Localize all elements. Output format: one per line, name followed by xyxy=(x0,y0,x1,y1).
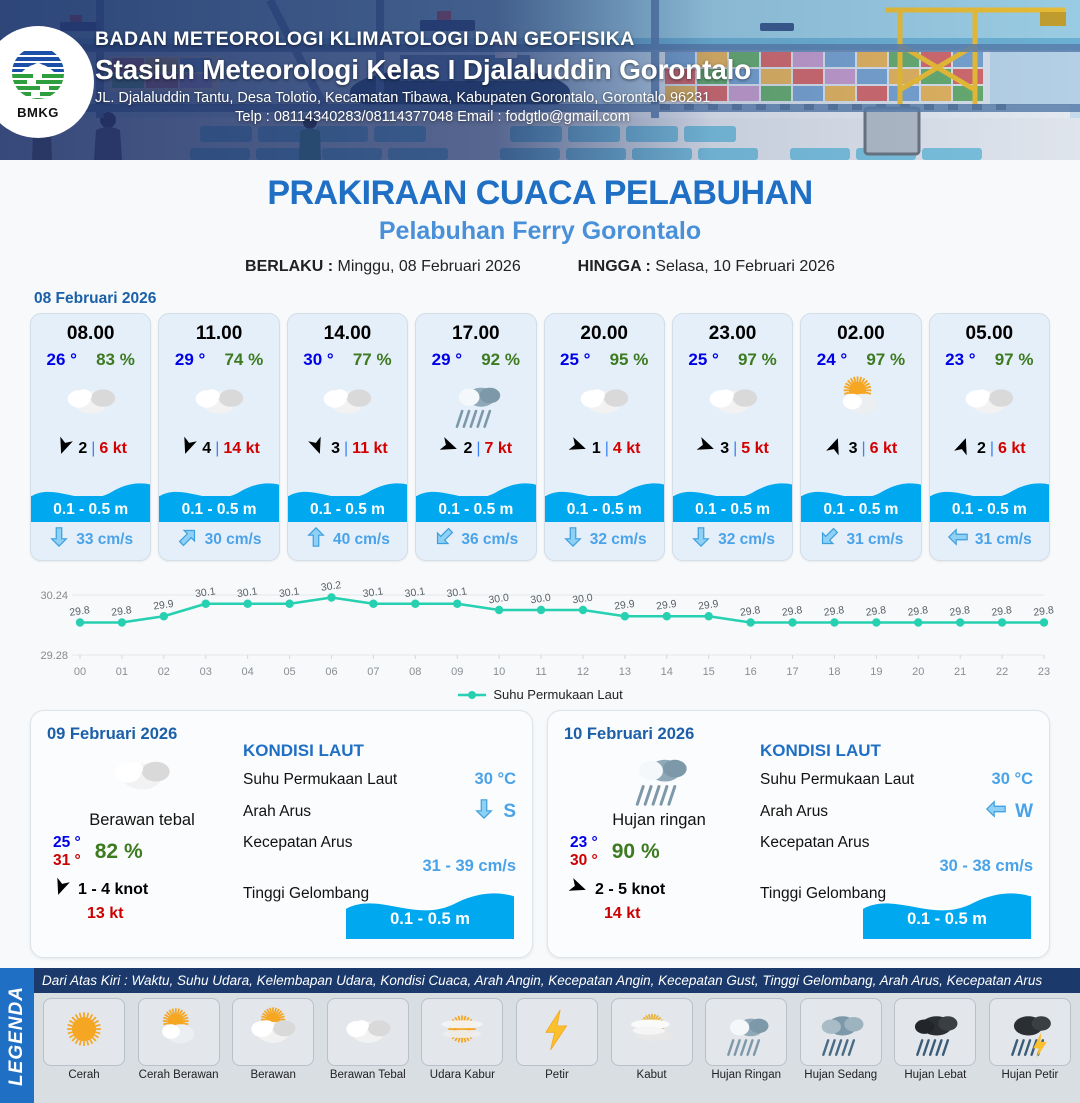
validity-row: BERLAKU : Minggu, 08 Februari 2026 HINGG… xyxy=(0,258,1080,276)
arrow-southwest-icon xyxy=(433,526,455,553)
card-wind-speed: 1 xyxy=(592,440,601,458)
sst-chart: 30.2429.2829.80029.80129.90230.10330.104… xyxy=(18,573,1062,683)
card-gust: 4 kt xyxy=(613,440,641,458)
daily-panel-left: 10 Februari 2026 Hujan ringan 23 ° 30 ° … xyxy=(564,725,754,943)
panel-temp-min: 23 ° xyxy=(570,834,598,852)
card-humidity: 83 % xyxy=(96,350,135,370)
svg-text:15: 15 xyxy=(703,666,715,678)
card-wave-height: 0.1 - 0.5 m xyxy=(159,501,278,519)
udara-kabur-icon xyxy=(421,998,503,1066)
svg-text:29.9: 29.9 xyxy=(152,598,174,613)
forecast-title-block: PRAKIRAAN CUACA PELABUHAN Pelabuhan Ferr… xyxy=(0,160,1080,276)
daily-panel-sea: KONDISI LAUT Suhu Permukaan Laut 30 °C A… xyxy=(754,725,1033,943)
sst-value: 30 °C xyxy=(475,770,516,789)
card-current-row: 31 cm/s xyxy=(930,526,1049,553)
panel-condition: Berawan tebal xyxy=(47,811,237,830)
svg-text:04: 04 xyxy=(242,666,254,678)
svg-text:21: 21 xyxy=(954,666,966,678)
hourly-card: 05.00 23 ° 97 % 2 | 6 kt 0.1 - 0.5 m xyxy=(929,313,1050,561)
card-separator: | xyxy=(990,440,994,458)
daily-panel: 10 Februari 2026 Hujan ringan 23 ° 30 ° … xyxy=(547,710,1050,958)
svg-text:30.1: 30.1 xyxy=(278,585,300,600)
current-speed-label: Kecepatan Arus xyxy=(243,834,352,852)
valid-from-label: BERLAKU : xyxy=(245,258,333,275)
hourly-card: 11.00 29 ° 74 % 4 | 14 kt 0.1 - 0.5 m xyxy=(158,313,279,561)
legend-item-label: Hujan Petir xyxy=(986,1069,1074,1081)
card-wave-height: 0.1 - 0.5 m xyxy=(416,501,535,519)
arrow-south-icon xyxy=(568,877,588,902)
svg-text:20: 20 xyxy=(912,666,924,678)
hujan-ringan-icon xyxy=(416,374,535,430)
card-current-row: 36 cm/s xyxy=(416,526,535,553)
legend-item-label: Berawan xyxy=(229,1069,317,1081)
card-wind-speed: 2 xyxy=(463,440,472,458)
card-wind-speed: 4 xyxy=(202,440,211,458)
card-separator: | xyxy=(733,440,737,458)
card-wave-zone: 0.1 - 0.5 m 30 cm/s xyxy=(159,480,278,560)
card-wave-height: 0.1 - 0.5 m xyxy=(31,501,150,519)
berawan-icon xyxy=(232,998,314,1066)
svg-text:29.8: 29.8 xyxy=(907,604,929,619)
card-current-speed: 31 cm/s xyxy=(975,531,1032,549)
card-wind-speed: 3 xyxy=(331,440,340,458)
hujan-lebat-icon xyxy=(894,998,976,1066)
panel-humidity: 90 % xyxy=(612,840,660,864)
current-direction-value: S xyxy=(503,801,516,823)
svg-text:29.8: 29.8 xyxy=(991,604,1013,619)
page-header: BADAN METEOROLOGI KLIMATOLOGI DAN GEOFIS… xyxy=(0,0,1080,160)
legend-item: Hujan Petir xyxy=(986,998,1074,1081)
svg-text:19: 19 xyxy=(870,666,882,678)
card-gust: 11 kt xyxy=(352,440,388,458)
card-gust: 7 kt xyxy=(485,440,513,458)
card-gust: 14 kt xyxy=(223,440,259,458)
card-wave-zone: 0.1 - 0.5 m 31 cm/s xyxy=(801,480,920,560)
legend-item: Cerah xyxy=(40,998,128,1081)
hourly-card: 23.00 25 ° 97 % 3 | 5 kt 0.1 - 0.5 m xyxy=(672,313,793,561)
station-address: JL. Djalaluddin Tantu, Desa Tolotio, Kec… xyxy=(95,90,1070,106)
chart-legend-label: Suhu Permukaan Laut xyxy=(493,687,622,702)
svg-text:29.8: 29.8 xyxy=(739,604,761,619)
hourly-date-label: 08 Februari 2026 xyxy=(34,290,1080,308)
arrow-northeast-icon xyxy=(177,526,199,553)
wave-height-value: 0.1 - 0.5 m xyxy=(346,910,514,929)
arrow-west-icon xyxy=(178,436,198,461)
legend-item-label: Berawan Tebal xyxy=(324,1069,412,1081)
berawan-tebal-icon xyxy=(288,374,407,430)
card-wave-zone: 0.1 - 0.5 m 32 cm/s xyxy=(673,480,792,560)
sea-condition-title: KONDISI LAUT xyxy=(243,741,516,761)
legend-items-row: Cerah Cerah Berawan Berawan Berawan Teba… xyxy=(34,993,1080,1081)
svg-text:11: 11 xyxy=(535,666,546,678)
panel-wind-range: 2 - 5 knot xyxy=(595,881,665,899)
svg-text:14: 14 xyxy=(661,666,673,678)
arrow-down-icon xyxy=(562,526,584,553)
svg-text:02: 02 xyxy=(158,666,170,678)
card-wave-height: 0.1 - 0.5 m xyxy=(801,501,920,519)
card-gust: 5 kt xyxy=(741,440,769,458)
legend-item: Berawan xyxy=(229,998,317,1081)
station-name: Stasiun Meteorologi Kelas I Djalaluddin … xyxy=(95,54,1070,86)
card-current-speed: 33 cm/s xyxy=(76,531,133,549)
hourly-card: 14.00 30 ° 77 % 3 | 11 kt 0.1 - 0.5 m xyxy=(287,313,408,561)
card-time: 20.00 xyxy=(545,323,664,345)
card-separator: | xyxy=(605,440,609,458)
bmkg-logo-text: BMKG xyxy=(17,105,59,120)
arrow-left-icon xyxy=(947,526,969,553)
svg-text:09: 09 xyxy=(451,666,463,678)
legend-item-label: Kabut xyxy=(608,1069,696,1081)
legend-item: Kabut xyxy=(608,998,696,1081)
legend-item-label: Hujan Sedang xyxy=(797,1069,885,1081)
card-humidity: 95 % xyxy=(610,350,649,370)
berawan-tebal-icon xyxy=(545,374,664,430)
card-current-speed: 31 cm/s xyxy=(846,531,903,549)
cerah-berawan-icon xyxy=(801,374,920,430)
card-wave-zone: 0.1 - 0.5 m 32 cm/s xyxy=(545,480,664,560)
card-current-row: 31 cm/s xyxy=(801,526,920,553)
card-wind-speed: 3 xyxy=(849,440,858,458)
legend-item: Cerah Berawan xyxy=(135,998,223,1081)
legend-item-label: Cerah Berawan xyxy=(135,1069,223,1081)
legend-side-label: LEGENDA xyxy=(6,986,28,1086)
legend-item-label: Cerah xyxy=(40,1069,128,1081)
berawan-tebal-icon xyxy=(31,374,150,430)
hourly-card: 20.00 25 ° 95 % 1 | 4 kt 0.1 - 0.5 m xyxy=(544,313,665,561)
legend-side-bar: LEGENDA xyxy=(0,968,34,1103)
kabut-icon xyxy=(611,998,693,1066)
card-temperature: 30 ° xyxy=(303,350,333,370)
card-wind-speed: 2 xyxy=(78,440,87,458)
card-wind-speed: 3 xyxy=(720,440,729,458)
card-current-row: 40 cm/s xyxy=(288,526,407,553)
panel-date: 09 Februari 2026 xyxy=(47,725,237,744)
current-direction-value: W xyxy=(1015,801,1033,823)
card-humidity: 77 % xyxy=(353,350,392,370)
sst-value: 30 °C xyxy=(992,770,1033,789)
card-temperature: 25 ° xyxy=(560,350,590,370)
card-temperature: 29 ° xyxy=(175,350,205,370)
current-direction-label: Arah Arus xyxy=(243,803,311,821)
arrow-southwest-icon xyxy=(818,526,840,553)
berawan-tebal-icon xyxy=(327,998,409,1066)
svg-text:29.28: 29.28 xyxy=(40,650,68,662)
card-wave-height: 0.1 - 0.5 m xyxy=(288,501,407,519)
valid-from-value: Minggu, 08 Februari 2026 xyxy=(338,258,521,275)
svg-text:30.1: 30.1 xyxy=(362,585,384,600)
card-time: 02.00 xyxy=(801,323,920,345)
sst-label: Suhu Permukaan Laut xyxy=(760,771,914,789)
legend-note: Dari Atas Kiri : Waktu, Suhu Udara, Kele… xyxy=(34,968,1080,993)
valid-to-value: Selasa, 10 Februari 2026 xyxy=(655,258,835,275)
berawan-tebal-icon xyxy=(673,374,792,430)
card-temperature: 25 ° xyxy=(688,350,718,370)
svg-text:00: 00 xyxy=(74,666,86,678)
hujan-ringan-icon xyxy=(705,998,787,1066)
station-contact: Telp : 08114340283/08114377048 Email : f… xyxy=(95,109,1070,125)
card-wave-height: 0.1 - 0.5 m xyxy=(673,501,792,519)
svg-text:29.9: 29.9 xyxy=(697,598,719,613)
card-gust: 6 kt xyxy=(99,440,127,458)
card-temperature: 23 ° xyxy=(945,350,975,370)
card-gust: 6 kt xyxy=(998,440,1026,458)
panel-gust: 14 kt xyxy=(564,905,754,923)
arrow-down-icon xyxy=(473,798,495,825)
hourly-card: 02.00 24 ° 97 % 3 | 6 kt 0.1 - 0.5 m 31 … xyxy=(800,313,921,561)
card-humidity: 97 % xyxy=(995,350,1034,370)
daily-panel-left: 09 Februari 2026 Berawan tebal 25 ° 31 °… xyxy=(47,725,237,943)
arrow-south-icon xyxy=(696,436,716,461)
card-humidity: 92 % xyxy=(481,350,520,370)
petir-icon xyxy=(516,998,598,1066)
hourly-forecast-row: 08.00 26 ° 83 % 2 | 6 kt 0.1 - 0.5 m xyxy=(0,313,1080,561)
current-speed-value: 31 - 39 cm/s xyxy=(243,857,516,876)
svg-text:30.2: 30.2 xyxy=(320,579,342,594)
card-time: 17.00 xyxy=(416,323,535,345)
sea-condition-title: KONDISI LAUT xyxy=(760,741,1033,761)
card-separator: | xyxy=(344,440,348,458)
card-wave-zone: 0.1 - 0.5 m 33 cm/s xyxy=(31,480,150,560)
card-separator: | xyxy=(476,440,480,458)
arrow-south-icon xyxy=(568,436,588,461)
arrow-westsouth-icon xyxy=(307,436,327,461)
svg-text:06: 06 xyxy=(325,666,337,678)
legend-item: Petir xyxy=(513,998,601,1081)
arrow-up-icon xyxy=(305,526,327,553)
svg-text:30.1: 30.1 xyxy=(446,585,468,600)
berawan-tebal-icon xyxy=(159,374,278,430)
card-humidity: 74 % xyxy=(224,350,263,370)
svg-text:30.0: 30.0 xyxy=(572,592,594,607)
card-time: 05.00 xyxy=(930,323,1049,345)
svg-text:18: 18 xyxy=(828,666,840,678)
svg-text:30.0: 30.0 xyxy=(488,592,510,607)
arrow-down-icon xyxy=(48,526,70,553)
page-title: PRAKIRAAN CUACA PELABUHAN xyxy=(0,174,1080,213)
chart-legend-marker xyxy=(457,689,487,701)
card-time: 23.00 xyxy=(673,323,792,345)
arrow-east-icon xyxy=(953,436,973,461)
legend-section: LEGENDA Dari Atas Kiri : Waktu, Suhu Uda… xyxy=(0,968,1080,1103)
current-speed-value: 30 - 38 cm/s xyxy=(760,857,1033,876)
berawan-tebal-icon xyxy=(47,746,237,808)
svg-text:29.9: 29.9 xyxy=(655,598,677,613)
cerah-icon xyxy=(43,998,125,1066)
legend-item-label: Petir xyxy=(513,1069,601,1081)
card-separator: | xyxy=(91,440,95,458)
card-wave-zone: 0.1 - 0.5 m 31 cm/s xyxy=(930,480,1049,560)
legend-item: Hujan Sedang xyxy=(797,998,885,1081)
card-time: 11.00 xyxy=(159,323,278,345)
card-current-speed: 40 cm/s xyxy=(333,531,390,549)
card-current-speed: 30 cm/s xyxy=(205,531,262,549)
arrow-west-icon xyxy=(54,436,74,461)
berawan-tebal-icon xyxy=(930,374,1049,430)
svg-text:30.1: 30.1 xyxy=(404,585,426,600)
hujan-petir-icon xyxy=(989,998,1071,1066)
arrow-east-icon xyxy=(825,436,845,461)
legend-item-label: Hujan Lebat xyxy=(891,1069,979,1081)
legend-item: Hujan Lebat xyxy=(891,998,979,1081)
card-temperature: 29 ° xyxy=(432,350,462,370)
card-humidity: 97 % xyxy=(866,350,905,370)
svg-text:01: 01 xyxy=(116,666,128,678)
arrow-left-icon xyxy=(985,798,1007,825)
card-wave-height: 0.1 - 0.5 m xyxy=(930,501,1049,519)
card-wind-speed: 2 xyxy=(977,440,986,458)
agency-name: BADAN METEOROLOGI KLIMATOLOGI DAN GEOFIS… xyxy=(95,28,1070,51)
svg-text:29.8: 29.8 xyxy=(781,604,803,619)
header-text-block: BADAN METEOROLOGI KLIMATOLOGI DAN GEOFIS… xyxy=(95,28,1070,125)
card-temperature: 26 ° xyxy=(47,350,77,370)
card-wave-zone: 0.1 - 0.5 m 40 cm/s xyxy=(288,480,407,560)
legend-body: Dari Atas Kiri : Waktu, Suhu Udara, Kele… xyxy=(34,968,1080,1103)
valid-to-label: HINGGA : xyxy=(578,258,651,275)
hourly-card: 08.00 26 ° 83 % 2 | 6 kt 0.1 - 0.5 m xyxy=(30,313,151,561)
svg-text:29.8: 29.8 xyxy=(823,604,845,619)
panel-humidity: 82 % xyxy=(95,840,143,864)
card-gust: 6 kt xyxy=(870,440,898,458)
panel-temp-max: 31 ° xyxy=(53,852,81,870)
card-current-row: 32 cm/s xyxy=(545,526,664,553)
svg-text:30.24: 30.24 xyxy=(40,590,68,602)
wave-height-value: 0.1 - 0.5 m xyxy=(863,910,1031,929)
card-time: 14.00 xyxy=(288,323,407,345)
svg-text:05: 05 xyxy=(283,666,295,678)
svg-text:03: 03 xyxy=(200,666,212,678)
current-direction-label: Arah Arus xyxy=(760,803,828,821)
arrow-south-icon xyxy=(439,436,459,461)
svg-text:29.8: 29.8 xyxy=(1033,604,1055,619)
hujan-sedang-icon xyxy=(800,998,882,1066)
svg-text:13: 13 xyxy=(619,666,631,678)
legend-item: Hujan Ringan xyxy=(702,998,790,1081)
svg-text:10: 10 xyxy=(493,666,505,678)
svg-text:12: 12 xyxy=(577,666,589,678)
card-separator: | xyxy=(862,440,866,458)
svg-text:17: 17 xyxy=(786,666,798,678)
card-wave-zone: 0.1 - 0.5 m 36 cm/s xyxy=(416,480,535,560)
legend-item: Berawan Tebal xyxy=(324,998,412,1081)
card-current-row: 32 cm/s xyxy=(673,526,792,553)
legend-item: Udara Kabur xyxy=(418,998,506,1081)
card-temperature: 24 ° xyxy=(817,350,847,370)
svg-text:30.1: 30.1 xyxy=(236,585,258,600)
svg-text:29.8: 29.8 xyxy=(111,604,133,619)
panel-date: 10 Februari 2026 xyxy=(564,725,754,744)
legend-item-label: Hujan Ringan xyxy=(702,1069,790,1081)
arrow-west-icon xyxy=(51,877,71,902)
sst-chart-canvas: 30.2429.2829.80029.80129.90230.10330.104… xyxy=(18,573,1062,683)
daily-panel-sea: KONDISI LAUT Suhu Permukaan Laut 30 °C A… xyxy=(237,725,516,943)
svg-text:22: 22 xyxy=(996,666,1008,678)
card-humidity: 97 % xyxy=(738,350,777,370)
card-wave-height: 0.1 - 0.5 m xyxy=(545,501,664,519)
bmkg-logo-icon xyxy=(7,45,69,107)
svg-text:29.8: 29.8 xyxy=(865,604,887,619)
panel-temp-max: 30 ° xyxy=(570,852,598,870)
card-current-row: 30 cm/s xyxy=(159,526,278,553)
sst-label: Suhu Permukaan Laut xyxy=(243,771,397,789)
svg-text:23: 23 xyxy=(1038,666,1050,678)
svg-text:30.1: 30.1 xyxy=(194,585,216,600)
arrow-down-icon xyxy=(690,526,712,553)
card-current-speed: 36 cm/s xyxy=(461,531,518,549)
daily-panel: 09 Februari 2026 Berawan tebal 25 ° 31 °… xyxy=(30,710,533,958)
card-current-speed: 32 cm/s xyxy=(590,531,647,549)
svg-text:07: 07 xyxy=(367,666,379,678)
panel-temp-min: 25 ° xyxy=(53,834,81,852)
svg-text:29.9: 29.9 xyxy=(613,598,635,613)
chart-legend: Suhu Permukaan Laut xyxy=(0,687,1080,702)
card-current-speed: 32 cm/s xyxy=(718,531,775,549)
hujan-ringan-icon xyxy=(564,746,754,808)
legend-item-label: Udara Kabur xyxy=(418,1069,506,1081)
svg-text:29.8: 29.8 xyxy=(949,604,971,619)
panel-wind-range: 1 - 4 knot xyxy=(78,881,148,899)
svg-text:16: 16 xyxy=(744,666,756,678)
daily-forecast-row: 09 Februari 2026 Berawan tebal 25 ° 31 °… xyxy=(0,702,1080,958)
card-current-row: 33 cm/s xyxy=(31,526,150,553)
cerah-berawan-icon xyxy=(138,998,220,1066)
panel-gust: 13 kt xyxy=(47,905,237,923)
panel-condition: Hujan ringan xyxy=(564,811,754,830)
card-time: 08.00 xyxy=(31,323,150,345)
svg-text:29.8: 29.8 xyxy=(69,604,91,619)
page-subtitle: Pelabuhan Ferry Gorontalo xyxy=(0,217,1080,246)
card-separator: | xyxy=(215,440,219,458)
svg-text:30.0: 30.0 xyxy=(530,592,552,607)
hourly-card: 17.00 29 ° 92 % 2 | 7 kt 0.1 - 0.5 m 36 … xyxy=(415,313,536,561)
current-speed-label: Kecepatan Arus xyxy=(760,834,869,852)
svg-text:08: 08 xyxy=(409,666,421,678)
